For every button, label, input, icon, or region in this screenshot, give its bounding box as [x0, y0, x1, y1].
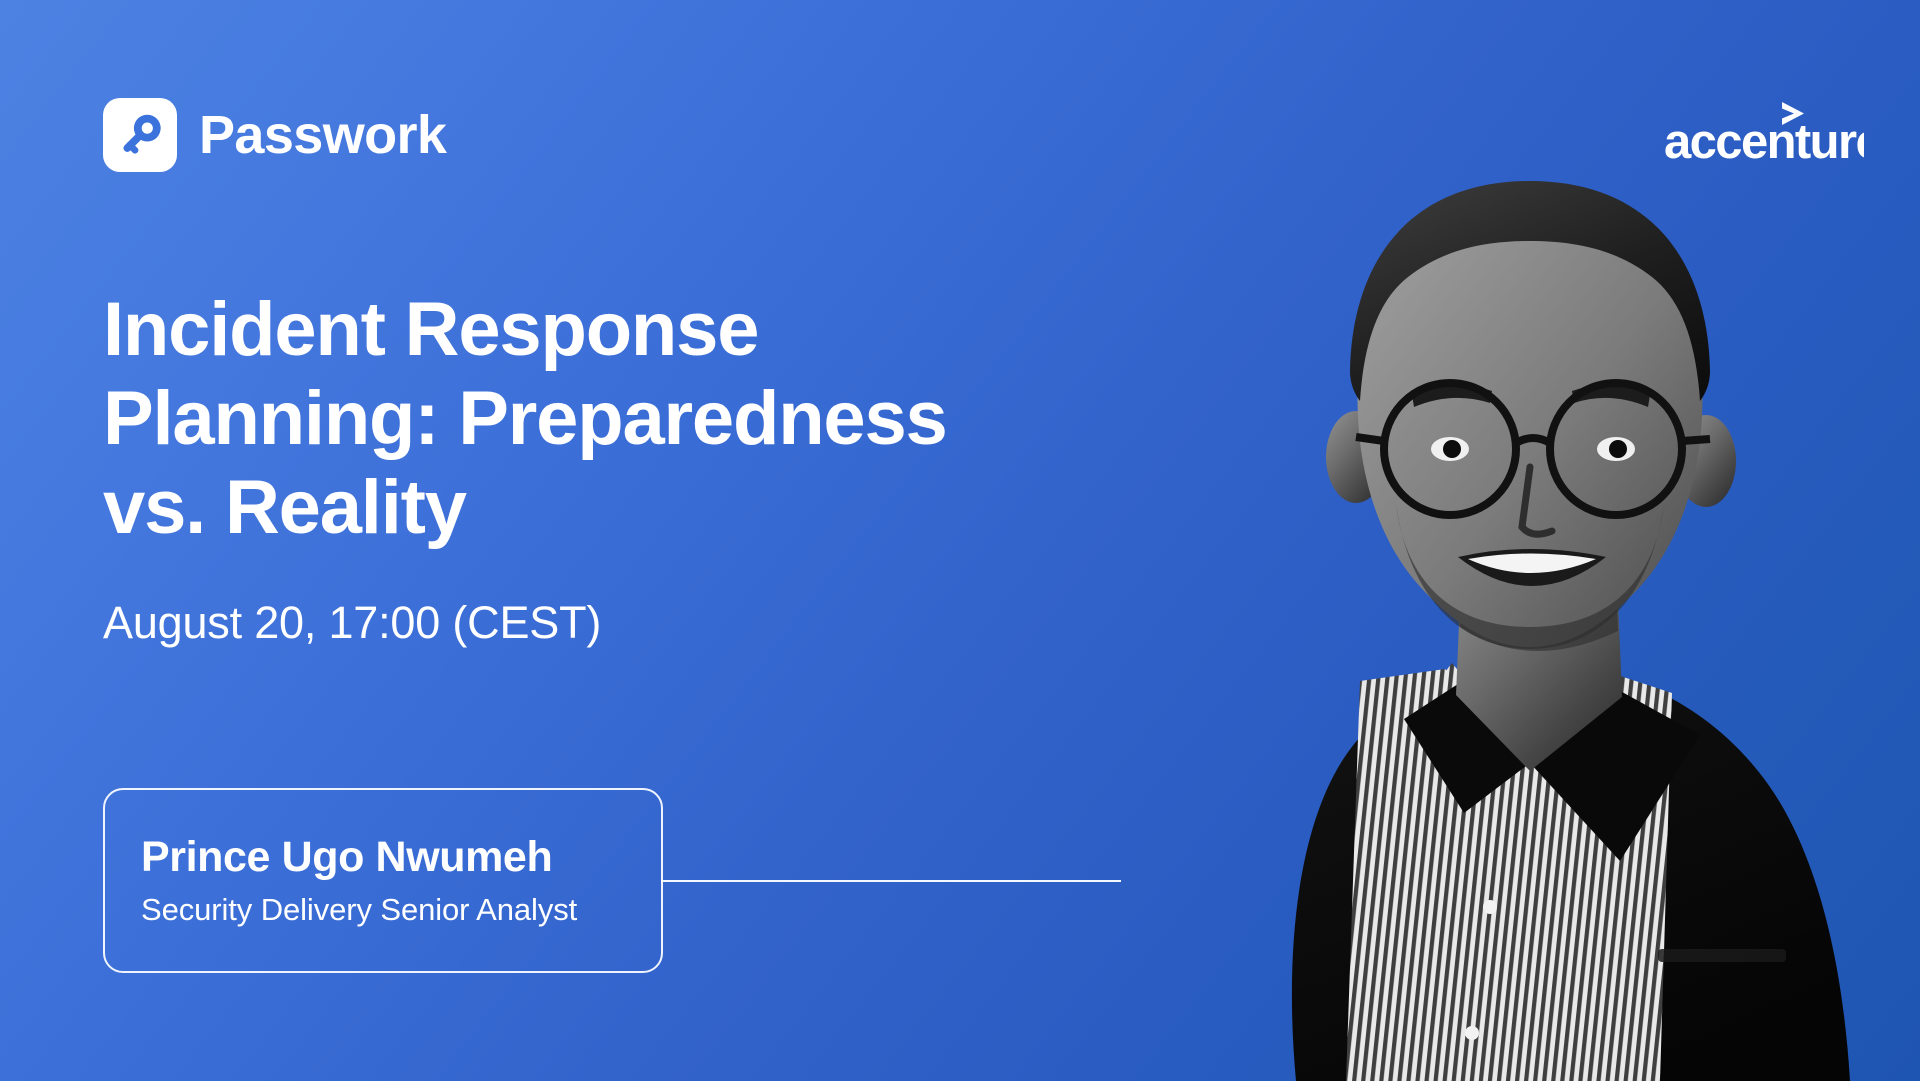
- speaker-name: Prince Ugo Nwumeh: [141, 834, 661, 881]
- beard: [1396, 503, 1664, 649]
- page-title: Incident Response Planning: Preparedness…: [103, 286, 1113, 553]
- passwork-wordmark: Passwork: [199, 108, 446, 162]
- nose: [1522, 467, 1552, 534]
- shirt-collar-left: [1426, 663, 1530, 777]
- passwork-logomark: [103, 98, 177, 172]
- shirt-button: [1465, 1026, 1479, 1040]
- jacket-lapel-right: [1530, 671, 1700, 861]
- glasses-bridge: [1516, 438, 1550, 443]
- accenture-wordmark: accenture: [1664, 115, 1864, 164]
- jacket-chest-pocket: [1658, 949, 1786, 962]
- shirt-button: [1483, 900, 1497, 914]
- lens-right: [1550, 383, 1682, 515]
- pupil-right: [1609, 440, 1627, 458]
- neck-shadow: [1460, 557, 1618, 651]
- neck: [1456, 551, 1622, 771]
- glasses-temple-right: [1682, 439, 1710, 441]
- eye-right: [1597, 437, 1635, 461]
- eyeglasses: [1356, 383, 1710, 515]
- eye-left: [1431, 437, 1469, 461]
- eyebrow-right: [1572, 385, 1650, 407]
- brand-row: Passwork accenture: [0, 0, 1920, 230]
- speaker-card: Prince Ugo Nwumeh Security Delivery Seni…: [103, 788, 663, 973]
- eyebrow-left: [1412, 385, 1492, 407]
- copy-block: Incident Response Planning: Preparedness…: [103, 286, 1113, 649]
- jacket-lapel-left: [1404, 671, 1530, 813]
- face: [1358, 199, 1703, 647]
- ear-right: [1676, 415, 1736, 507]
- ear-left: [1326, 411, 1386, 503]
- speaker-connector-line: [661, 880, 1121, 882]
- teeth: [1468, 554, 1596, 574]
- suit-jacket: [1292, 663, 1850, 1081]
- mouth: [1458, 549, 1606, 586]
- lens-left: [1384, 383, 1516, 515]
- shirt-collar-right: [1530, 665, 1644, 783]
- glasses-temple-left: [1356, 437, 1384, 441]
- webinar-promo-banner: Passwork accenture: [0, 0, 1920, 1081]
- speaker-role: Security Delivery Senior Analyst: [141, 881, 661, 927]
- pupil-left: [1443, 440, 1461, 458]
- key-icon: [103, 98, 177, 172]
- event-date: August 20, 17:00 (CEST): [103, 553, 1113, 649]
- passwork-logo[interactable]: Passwork: [103, 98, 446, 172]
- accenture-logo-svg: accenture: [1664, 96, 1864, 164]
- accenture-logo[interactable]: accenture: [1664, 96, 1864, 164]
- striped-shirt: [1330, 651, 1690, 1081]
